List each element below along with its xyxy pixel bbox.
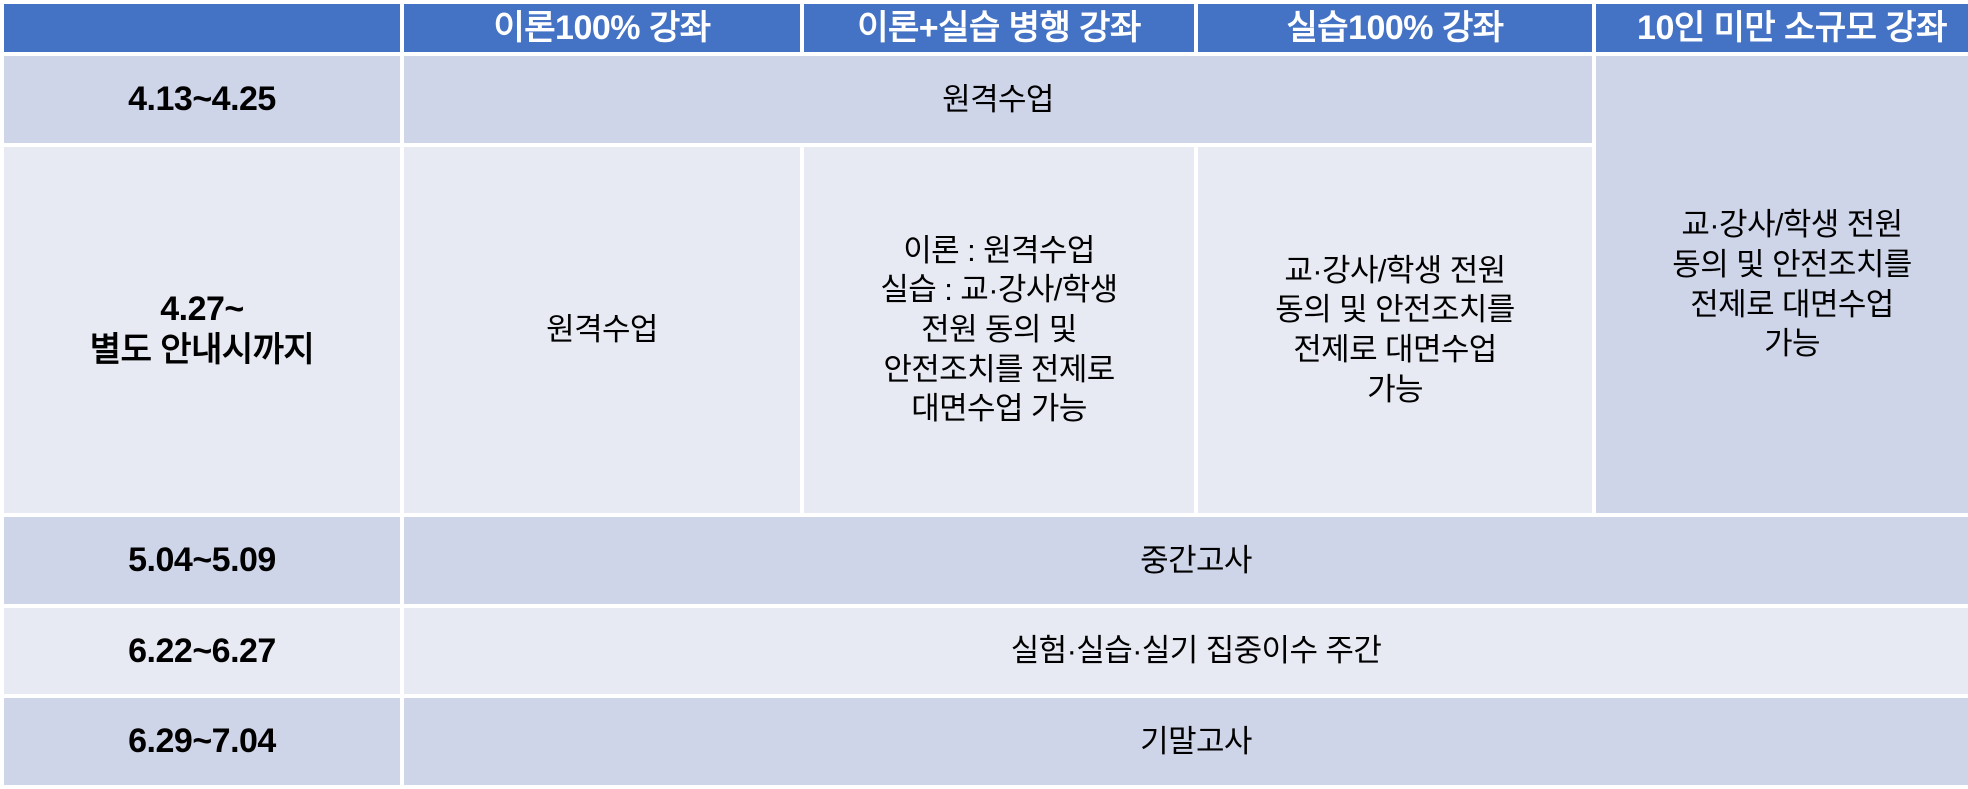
row-period-label: 4.13~4.25 [4, 56, 400, 143]
cell-mixed: 이론 : 원격수업 실습 : 교·강사/학생 전원 동의 및 안전조치를 전제로… [804, 147, 1194, 513]
header-cell-period [4, 4, 400, 52]
cell-practice100: 교·강사/학생 전원 동의 및 안전조치를 전제로 대면수업 가능 [1198, 147, 1592, 513]
table-row: 5.04~5.09 중간고사 [4, 517, 1968, 604]
row-period-label: 4.27~ 별도 안내시까지 [4, 147, 400, 513]
header-row: 이론100% 강좌 이론+실습 병행 강좌 실습100% 강좌 10인 미만 소… [4, 4, 1968, 52]
cell-theory100: 원격수업 [404, 147, 800, 513]
row-merged-cell: 실험·실습·실기 집중이수 주간 [404, 608, 1968, 695]
table-row: 4.13~4.25 원격수업 교·강사/학생 전원 동의 및 안전조치를 전제로… [4, 56, 1968, 143]
table-header: 이론100% 강좌 이론+실습 병행 강좌 실습100% 강좌 10인 미만 소… [4, 4, 1968, 52]
row-merged-cell: 중간고사 [404, 517, 1968, 604]
row-period-label: 6.29~7.04 [4, 698, 400, 785]
schedule-table-slide: 이론100% 강좌 이론+실습 병행 강좌 실습100% 강좌 10인 미만 소… [0, 0, 1968, 789]
header-cell-practice100: 실습100% 강좌 [1198, 4, 1592, 52]
header-cell-mixed: 이론+실습 병행 강좌 [804, 4, 1194, 52]
table-row: 6.29~7.04 기말고사 [4, 698, 1968, 785]
row-merged-cell: 기말고사 [404, 698, 1968, 785]
row-merged-cell: 원격수업 [404, 56, 1592, 143]
small-class-merged-cell: 교·강사/학생 전원 동의 및 안전조치를 전제로 대면수업 가능 [1596, 56, 1968, 513]
table-row: 6.22~6.27 실험·실습·실기 집중이수 주간 [4, 608, 1968, 695]
header-cell-small-class: 10인 미만 소규모 강좌 [1596, 4, 1968, 52]
row-period-label: 6.22~6.27 [4, 608, 400, 695]
table-body: 4.13~4.25 원격수업 교·강사/학생 전원 동의 및 안전조치를 전제로… [4, 56, 1968, 785]
row-period-label: 5.04~5.09 [4, 517, 400, 604]
course-operation-schedule-table: 이론100% 강좌 이론+실습 병행 강좌 실습100% 강좌 10인 미만 소… [0, 0, 1968, 789]
header-cell-theory100: 이론100% 강좌 [404, 4, 800, 52]
